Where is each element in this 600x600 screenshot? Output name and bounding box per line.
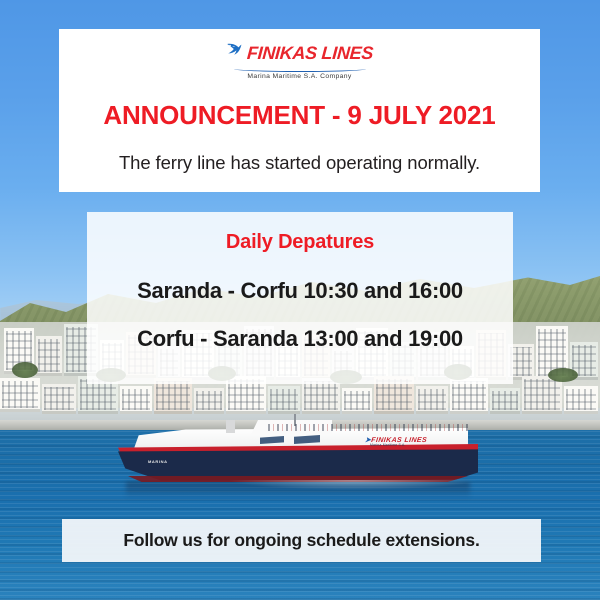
dolphin-icon xyxy=(225,40,245,65)
ferry-passengers xyxy=(268,424,468,431)
announcement-headline: ANNOUNCEMENT - 9 JULY 2021 xyxy=(59,100,540,131)
departure-route-2: Corfu - Saranda 13:00 and 19:00 xyxy=(87,326,513,352)
brand-tagline: Marina Maritime S.A. Company xyxy=(247,73,351,80)
footer-panel: Follow us for ongoing schedule extension… xyxy=(62,519,541,562)
footer-text: Follow us for ongoing schedule extension… xyxy=(123,530,479,551)
announcement-body: The ferry line has started operating nor… xyxy=(59,152,540,174)
announcement-panel: FINIKAS LINES Marina Maritime S.A. Compa… xyxy=(59,29,540,192)
brand-logo: FINIKAS LINES Marina Maritime S.A. Compa… xyxy=(59,40,540,80)
departure-route-1: Saranda - Corfu 10:30 and 16:00 xyxy=(87,278,513,304)
brand-underline-swoosh xyxy=(234,66,366,72)
departures-panel: Daily Depatures Saranda - Corfu 10:30 an… xyxy=(87,212,513,384)
brand-name: FINIKAS LINES xyxy=(247,44,374,62)
announcement-poster: ➤FINIKAS LINES Marina Maritime S.A. MARI… xyxy=(0,0,600,600)
departures-title: Daily Depatures xyxy=(87,231,513,254)
ferry-hull-subtext: Marina Maritime S.A. xyxy=(370,443,406,447)
brand-logo-row: FINIKAS LINES xyxy=(225,40,373,65)
ferry-wake xyxy=(228,480,478,490)
ferry-vessel: ➤FINIKAS LINES Marina Maritime S.A. MARI… xyxy=(118,414,478,486)
ferry-bow-name: MARINA xyxy=(148,459,168,464)
ferry-funnel xyxy=(226,420,235,433)
